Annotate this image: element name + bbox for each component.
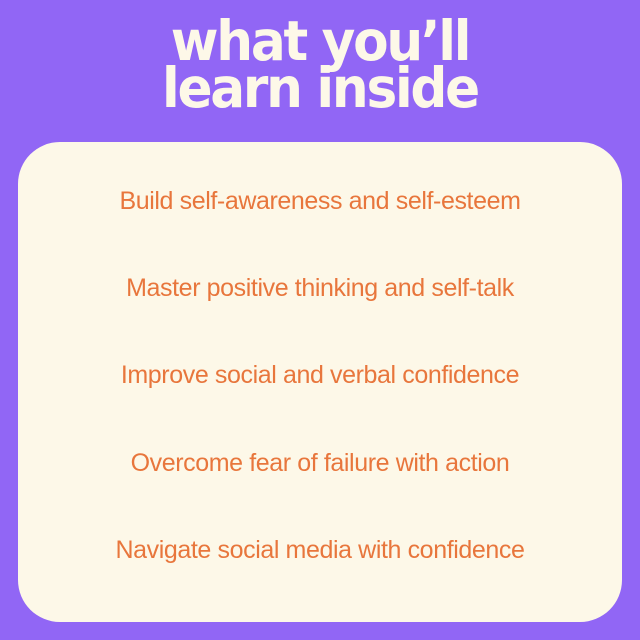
page-title: what you’ll learn inside: [0, 18, 640, 112]
page-title-line-2: learn inside: [19, 65, 621, 112]
list-item: Navigate social media with confidence: [18, 535, 622, 622]
list-item: Overcome fear of failure with action: [18, 448, 622, 535]
list-item: Master positive thinking and self-talk: [18, 273, 622, 360]
learn-list-card: Build self-awareness and self-esteem Mas…: [18, 142, 622, 622]
list-item: Build self-awareness and self-esteem: [18, 186, 622, 273]
promo-poster: what you’ll learn inside Build self-awar…: [0, 0, 640, 640]
list-item: Improve social and verbal confidence: [18, 360, 622, 447]
